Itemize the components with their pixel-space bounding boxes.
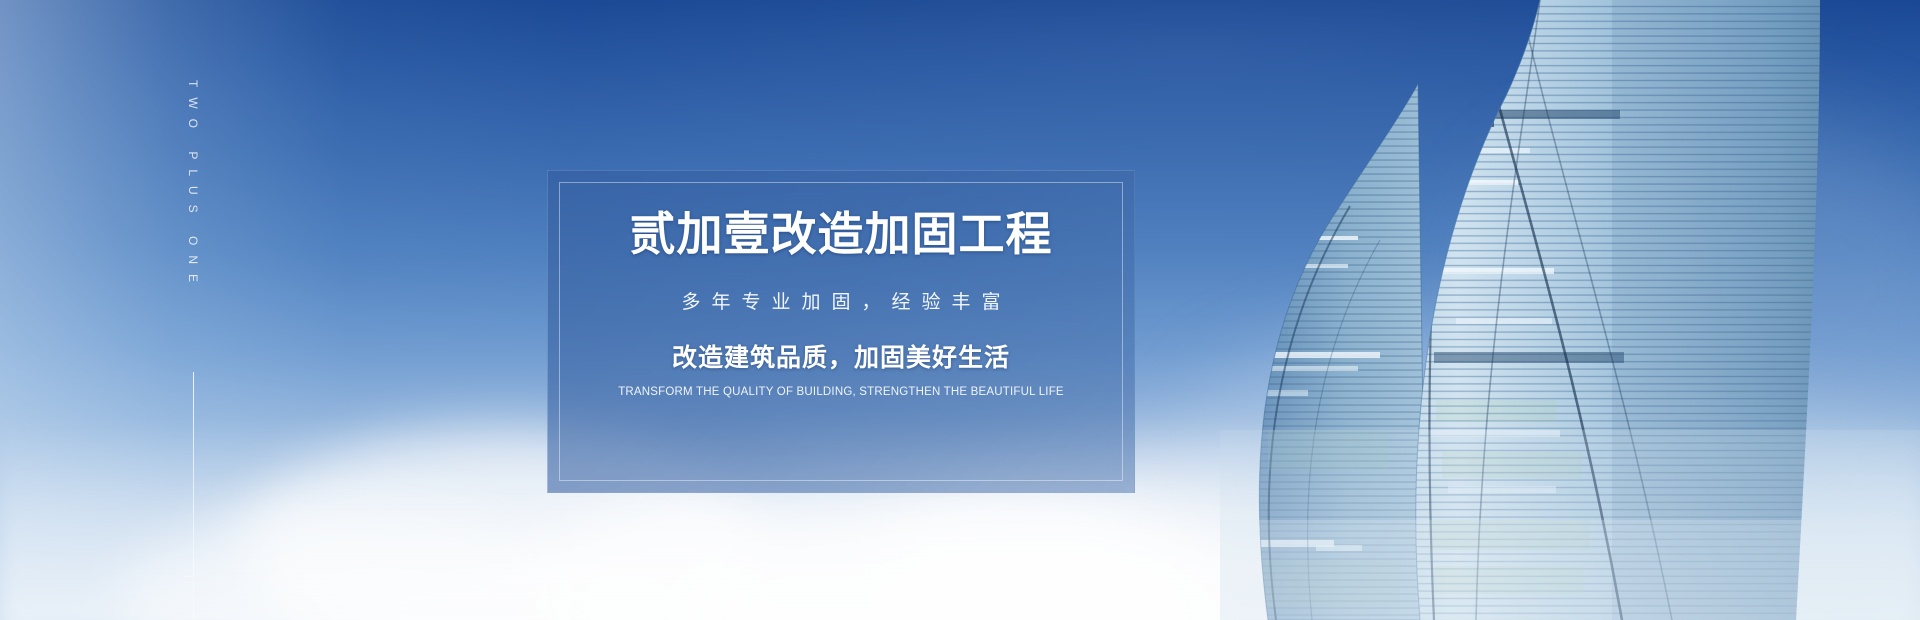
panel-content: 贰加壹改造加固工程 多年专业加固，经验丰富 改造建筑品质，加固美好生活 TRAN… [548, 171, 1134, 492]
hero-banner: TWO PLUS ONE 二 贰加壹改造加固工程 多年专业加固，经验丰富 改造建… [0, 0, 1920, 620]
skyline-illustration [1220, 0, 1920, 620]
brand-vertical-label: TWO PLUS ONE [186, 80, 200, 292]
slogan-english: TRANSFORM THE QUALITY OF BUILDING, STREN… [618, 386, 1064, 398]
slogan-text: 改造建筑品质，加固美好生活 [672, 338, 1010, 374]
page-subtitle: 多年专业加固，经验丰富 [670, 287, 1011, 314]
brand-vertical-text: TWO PLUS ONE [178, 80, 208, 310]
brand-mark-glyph: 二 [178, 568, 193, 579]
page-title: 贰加壹改造加固工程 [630, 208, 1053, 260]
divider-icon [193, 372, 194, 620]
hero-text-panel: 贰加壹改造加固工程 多年专业加固，经验丰富 改造建筑品质，加固美好生活 TRAN… [547, 170, 1135, 493]
